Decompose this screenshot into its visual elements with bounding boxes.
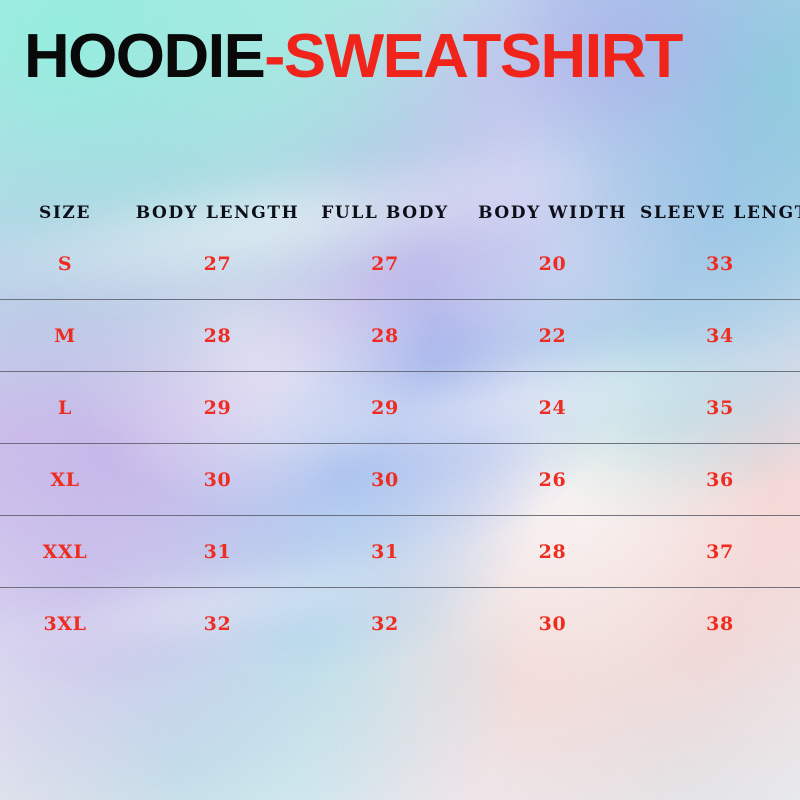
cell-size: XL [0, 469, 130, 491]
row-divider [0, 587, 800, 588]
table-row: XL 30 30 26 36 [0, 444, 800, 515]
cell-sleeve-length: 38 [640, 613, 800, 635]
table-row: 3XL 32 32 30 38 [0, 588, 800, 659]
table-row: XXL 31 31 28 37 [0, 516, 800, 587]
column-header-sleeve-length: SLEEVE LENGTH [640, 203, 800, 223]
cell-full-body: 30 [305, 469, 465, 491]
cell-full-body: 27 [305, 253, 465, 275]
cell-body-length: 31 [130, 541, 305, 563]
row-divider [0, 299, 800, 300]
size-chart-page: HOODIE-SWEATSHIRT SIZE BODY LENGTH FULL … [0, 0, 800, 800]
page-title-red-part: -SWEATSHIRT [264, 22, 682, 91]
size-chart-table: SIZE BODY LENGTH FULL BODY BODY WIDTH SL… [0, 198, 800, 659]
cell-body-length: 30 [130, 469, 305, 491]
cell-size: M [0, 325, 130, 347]
table-row: L 29 29 24 35 [0, 372, 800, 443]
cell-body-length: 27 [130, 253, 305, 275]
row-divider [0, 515, 800, 516]
table-header-row: SIZE BODY LENGTH FULL BODY BODY WIDTH SL… [0, 198, 800, 228]
table-row: S 27 27 20 33 [0, 228, 800, 299]
cell-body-width: 20 [465, 253, 640, 275]
column-header-body-width: BODY WIDTH [465, 203, 640, 223]
cell-body-length: 29 [130, 397, 305, 419]
cell-sleeve-length: 37 [640, 541, 800, 563]
column-header-full-body: FULL BODY [305, 203, 465, 223]
page-title: HOODIE-SWEATSHIRT [24, 26, 682, 88]
cell-body-width: 26 [465, 469, 640, 491]
cell-size: XXL [0, 541, 130, 563]
cell-body-width: 30 [465, 613, 640, 635]
cell-full-body: 31 [305, 541, 465, 563]
cell-full-body: 29 [305, 397, 465, 419]
cell-body-width: 28 [465, 541, 640, 563]
cell-size: S [0, 253, 130, 275]
cell-body-width: 22 [465, 325, 640, 347]
cell-body-width: 24 [465, 397, 640, 419]
cell-body-length: 28 [130, 325, 305, 347]
column-header-size: SIZE [0, 203, 130, 223]
cell-sleeve-length: 35 [640, 397, 800, 419]
cell-body-length: 32 [130, 613, 305, 635]
cell-size: L [0, 397, 130, 419]
page-title-dark-part: HOODIE [24, 22, 264, 91]
column-header-body-length: BODY LENGTH [130, 203, 305, 223]
cell-sleeve-length: 36 [640, 469, 800, 491]
cell-sleeve-length: 33 [640, 253, 800, 275]
cell-full-body: 32 [305, 613, 465, 635]
row-divider [0, 443, 800, 444]
cell-full-body: 28 [305, 325, 465, 347]
table-row: M 28 28 22 34 [0, 300, 800, 371]
row-divider [0, 371, 800, 372]
cell-size: 3XL [0, 613, 130, 635]
cell-sleeve-length: 34 [640, 325, 800, 347]
